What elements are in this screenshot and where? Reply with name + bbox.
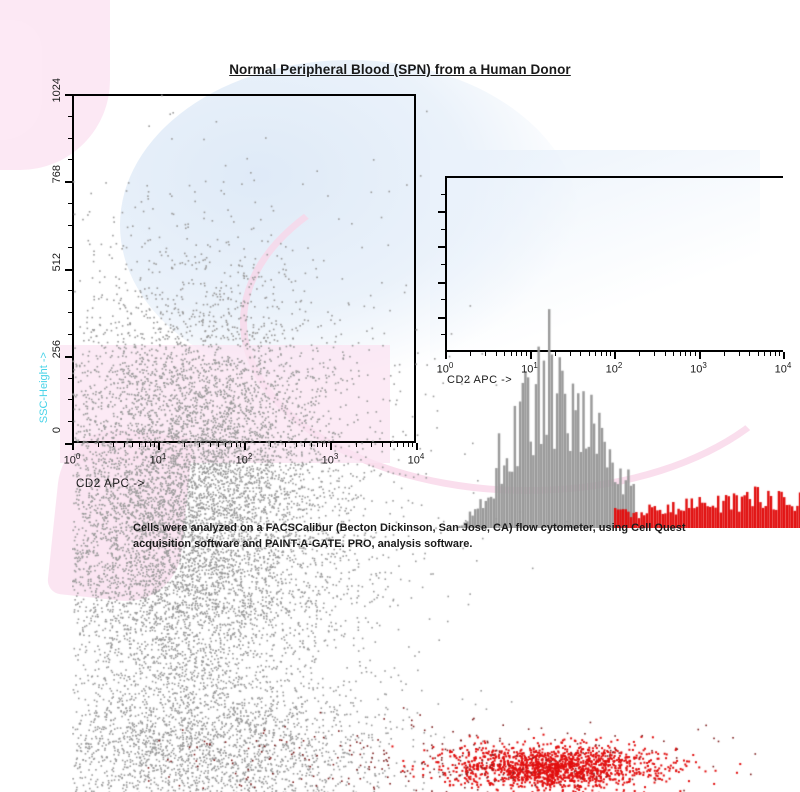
scatter-x-tick [158,443,160,450]
histogram-x-tick-minor [758,352,759,356]
scatter-x-tick-minor [154,443,155,447]
scatter-y-tick [65,269,72,271]
scatter-y-tick [65,181,72,183]
histogram-x-tick-minor [589,352,590,356]
scatter-x-tick-minor [322,443,323,447]
histogram-x-tick-minor [570,352,571,356]
scatter-y-tick-label: 1024 [52,78,63,102]
scatter-x-tick-label: 102 [236,452,253,467]
scatter-x-tick-minor [311,443,312,447]
histogram-y-tick [438,211,445,213]
histogram-x-tick-minor [610,352,611,356]
histogram-y-tick [441,334,445,335]
scatter-x-tick-minor [408,443,409,447]
histogram-x-tick-minor [580,352,581,356]
scatter-x-tick [72,443,74,450]
scatter-y-tick-minor [68,225,72,226]
histogram-x-tick-minor [521,352,522,356]
histogram-x-tick-minor [504,352,505,356]
watermark-pink-left-bar [0,20,42,140]
scatter-x-tick-minor [236,443,237,447]
scatter-y-axis-title: SSC-Height -> [38,352,50,423]
histogram-x-tick-minor [779,352,780,356]
scatter-x-tick-minor [150,443,151,447]
scatter-y-tick-label: 256 [52,340,63,358]
scatter-y-tick-minor [68,334,72,335]
histogram-x-tick-minor [665,352,666,356]
histogram-x-tick-minor [601,352,602,356]
histogram-x-tick-minor [526,352,527,356]
scatter-y-tick-minor [68,159,72,160]
figure-caption: Cells were analyzed on a FACSCalibur (Be… [133,521,713,553]
scatter-x-tick-minor [317,443,318,447]
histogram-x-tick-minor [685,352,686,356]
caption-line-2: acquisition software and PAINT-A-GATE. P… [133,537,713,553]
histogram-x-tick-minor [770,352,771,356]
scatter-x-tick-minor [270,443,271,447]
scatter-y-tick-label: 0 [52,427,63,433]
scatter-y-tick-minor [68,399,72,400]
scatter-x-tick-minor [240,443,241,447]
histogram-x-tick-minor [485,352,486,356]
histogram-canvas [445,176,800,528]
scatter-x-tick-minor [304,443,305,447]
histogram-x-tick-minor [555,352,556,356]
histogram-y-tick [438,317,445,319]
histogram-y-tick [441,299,445,300]
scatter-x-tick-minor [397,443,398,447]
histogram-y-tick [438,282,445,284]
scatter-x-tick-minor [412,443,413,447]
scatter-x-axis-title: CD2 APC -> [76,478,145,490]
scatter-plot-panel: 02565127681024100101102103104 [72,94,416,443]
histogram-y-tick [441,229,445,230]
histogram-x-tick-minor [511,352,512,356]
histogram-x-tick-minor [496,352,497,356]
scatter-y-tick [65,94,72,96]
scatter-y-tick-minor [68,203,72,204]
histogram-y-tick [441,264,445,265]
scatter-x-tick-minor [199,443,200,447]
histogram-x-tick [445,352,447,359]
histogram-x-tick-minor [695,352,696,356]
histogram-x-tick [783,352,785,359]
scatter-y-tick-minor [68,290,72,291]
histogram-y-tick [441,194,445,195]
scatter-x-tick-minor [210,443,211,447]
scatter-y-tick-minor [68,138,72,139]
scatter-y-tick-minor [68,312,72,313]
scatter-x-tick [416,443,418,450]
histogram-x-tick [699,352,701,359]
histogram-x-tick-minor [673,352,674,356]
histogram-x-tick-minor [749,352,750,356]
histogram-x-tick [614,352,616,359]
scatter-x-tick-label: 103 [322,452,339,467]
histogram-x-tick-label: 102 [606,361,623,376]
scatter-x-tick-minor [356,443,357,447]
scatter-y-tick-label: 768 [52,165,63,183]
scatter-x-tick [330,443,332,450]
histogram-x-axis-title: CD2 APC -> [447,374,512,386]
histogram-x-tick-minor [775,352,776,356]
scatter-x-tick-minor [296,443,297,447]
scatter-x-tick-minor [326,443,327,447]
histogram-x-tick-label: 103 [690,361,707,376]
histogram-x-tick [530,352,532,359]
scatter-x-tick-minor [124,443,125,447]
scatter-x-tick-label: 104 [408,452,425,467]
scatter-x-tick-minor [382,443,383,447]
scatter-y-tick-minor [68,116,72,117]
caption-line-1: Cells were analyzed on a FACSCalibur (Be… [133,521,713,537]
scatter-x-tick-minor [113,443,114,447]
histogram-panel: 100101102103104 [445,176,783,352]
scatter-x-tick-label: 100 [64,452,81,467]
scatter-y-tick [65,356,72,358]
scatter-x-tick-minor [139,443,140,447]
scatter-y-tick-minor [68,378,72,379]
scatter-x-tick-minor [225,443,226,447]
scatter-x-tick-minor [285,443,286,447]
scatter-x-tick-label: 101 [150,452,167,467]
scatter-x-tick-minor [132,443,133,447]
scatter-y-tick-minor [68,421,72,422]
scatter-x-tick-minor [390,443,391,447]
histogram-x-tick-minor [764,352,765,356]
histogram-x-tick-minor [654,352,655,356]
histogram-y-tick [438,246,445,248]
histogram-x-tick-minor [639,352,640,356]
scatter-x-tick-minor [371,443,372,447]
scatter-x-tick-minor [98,443,99,447]
scatter-x-tick-minor [184,443,185,447]
histogram-x-tick-minor [724,352,725,356]
scatter-y-tick-label: 512 [52,253,63,271]
histogram-x-tick-minor [470,352,471,356]
scatter-x-tick [244,443,246,450]
histogram-x-tick-label: 101 [521,361,538,376]
scatter-y-tick-minor [68,247,72,248]
histogram-x-tick-minor [595,352,596,356]
scatter-x-tick-minor [403,443,404,447]
scatter-x-tick-minor [218,443,219,447]
scatter-x-tick-minor [231,443,232,447]
histogram-x-tick-minor [606,352,607,356]
scatter-x-tick-minor [145,443,146,447]
scatter-y-tick [65,443,72,445]
histogram-x-tick-minor [739,352,740,356]
histogram-x-tick-label: 104 [775,361,792,376]
histogram-x-tick-minor [516,352,517,356]
histogram-x-tick-minor [680,352,681,356]
histogram-x-tick-minor [690,352,691,356]
figure-title: Normal Peripheral Blood (SPN) from a Hum… [0,62,800,77]
